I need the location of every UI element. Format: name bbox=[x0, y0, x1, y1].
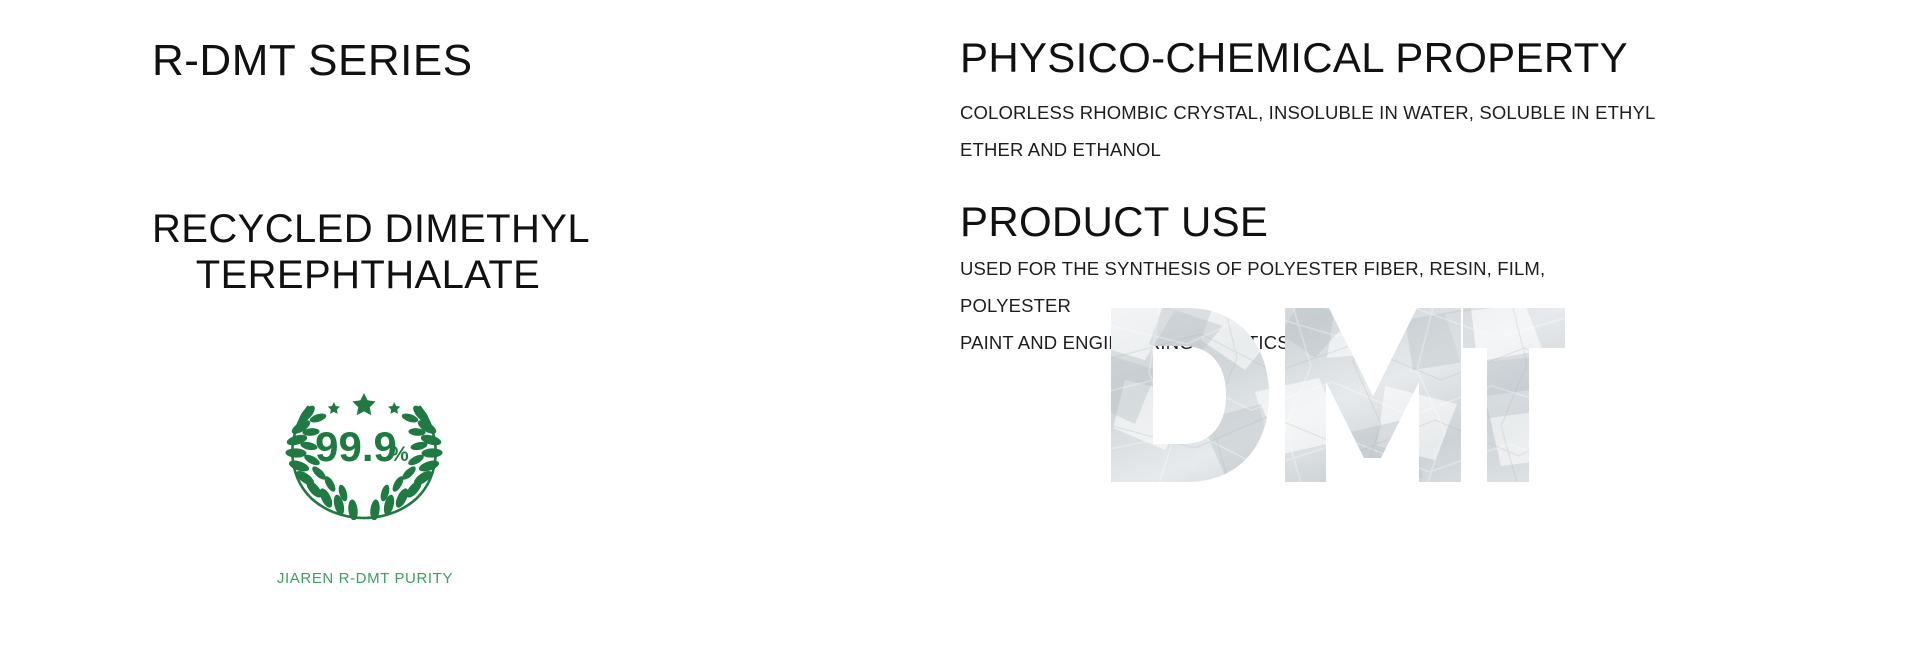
product-name-line-2: TEREPHTHALATE bbox=[152, 252, 672, 298]
dmt-watermark: DMT bbox=[1105, 300, 1565, 490]
star-icons bbox=[328, 393, 401, 415]
laurel-wreath-icon: 99.9 % bbox=[278, 385, 450, 520]
section-heading-product-use: PRODUCT USE bbox=[960, 200, 1660, 244]
section-heading-physico-chemical-property: PHYSICO-CHEMICAL PROPERTY bbox=[960, 36, 1660, 80]
section-body-physico-chemical-property: COLORLESS RHOMBIC CRYSTAL, INSOLUBLE IN … bbox=[960, 94, 1660, 168]
purity-unit: % bbox=[390, 443, 409, 466]
series-title: R-DMT SERIES bbox=[152, 38, 473, 84]
purity-value: 99.9 bbox=[315, 423, 397, 470]
section-physico-chemical-property: PHYSICO-CHEMICAL PROPERTY COLORLESS RHOM… bbox=[960, 36, 1660, 168]
product-info-panel: R-DMT SERIES RECYCLED DIMETHYL TEREPHTHA… bbox=[0, 0, 1921, 651]
purity-caption: JIAREN R-DMT PURITY bbox=[200, 570, 530, 587]
product-name: RECYCLED DIMETHYL TEREPHTHALATE bbox=[152, 206, 672, 298]
dmt-wordmark-icon: DMT bbox=[1105, 300, 1565, 490]
body-line: COLORLESS RHOMBIC CRYSTAL, INSOLUBLE IN … bbox=[960, 94, 1660, 131]
dmt-letterforms bbox=[1105, 300, 1565, 490]
left-column: R-DMT SERIES RECYCLED DIMETHYL TEREPHTHA… bbox=[0, 0, 960, 651]
purity-badge: 99.9 % bbox=[278, 385, 450, 520]
right-column: PHYSICO-CHEMICAL PROPERTY COLORLESS RHOM… bbox=[960, 0, 1921, 651]
body-line: ETHER AND ETHANOL bbox=[960, 131, 1660, 168]
product-name-line-1: RECYCLED DIMETHYL bbox=[152, 206, 672, 252]
